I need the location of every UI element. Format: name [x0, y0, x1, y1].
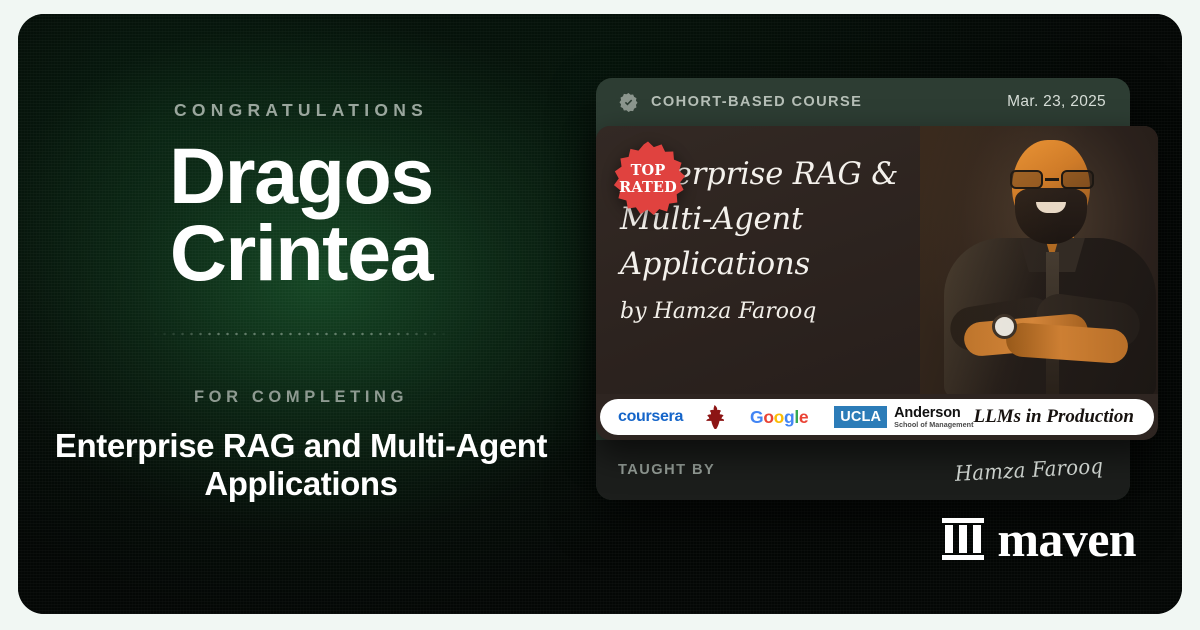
google-letter-g: g — [784, 407, 794, 428]
google-letter-o2: o — [774, 407, 784, 428]
course-card-column: COHORT-BASED COURSE Mar. 23, 2025 TOP RA… — [582, 78, 1144, 500]
google-letter-o1: o — [763, 407, 773, 428]
maven-pillars-icon — [942, 516, 984, 562]
course-date: Mar. 23, 2025 — [1007, 93, 1106, 111]
certificate-text-column: CONGRATULATIONS Dragos Crintea FOR COMPL… — [18, 14, 584, 614]
anderson-subtitle: School of Management — [894, 421, 973, 428]
llms-in-production-logo: LLMs in Production — [974, 406, 1138, 428]
dotted-divider — [151, 332, 451, 336]
course-type-label: COHORT-BASED COURSE — [651, 94, 862, 110]
anderson-name: Anderson — [894, 406, 973, 421]
certificate-canvas: CONGRATULATIONS Dragos Crintea FOR COMPL… — [18, 14, 1182, 614]
certificate-frame: CONGRATULATIONS Dragos Crintea FOR COMPL… — [0, 0, 1200, 630]
thumbnail-title-line-3: Applications — [620, 242, 950, 287]
congratulations-label: CONGRATULATIONS — [174, 100, 428, 121]
completed-course-title: Enterprise RAG and Multi-Agent Applicati… — [51, 427, 551, 504]
course-thumbnail-card[interactable]: TOP RATED Enterprise RAG & Multi-Agent A… — [596, 126, 1158, 440]
maven-wordmark: maven — [997, 514, 1136, 564]
coursera-logo: coursera — [618, 408, 683, 426]
course-card-footer: TAUGHT BY Hamza Farooq — [596, 440, 1130, 500]
course-card-header: COHORT-BASED COURSE Mar. 23, 2025 — [596, 78, 1130, 126]
google-logo: Google — [750, 407, 808, 428]
maven-brand-logo[interactable]: maven — [942, 514, 1136, 564]
verified-badge-icon — [618, 92, 639, 113]
google-letter-G: G — [750, 407, 763, 428]
thumbnail-body: TOP RATED Enterprise RAG & Multi-Agent A… — [596, 126, 1158, 394]
course-card[interactable]: COHORT-BASED COURSE Mar. 23, 2025 TOP RA… — [596, 78, 1130, 500]
google-letter-e: e — [799, 407, 808, 428]
instructor-portrait — [920, 126, 1158, 394]
ucla-mark: UCLA — [834, 406, 887, 429]
stanford-logo — [705, 405, 724, 429]
ucla-anderson-logo: UCLA Anderson School of Management — [834, 406, 973, 429]
partner-logo-strip: coursera Google UCLA Ander — [600, 399, 1154, 435]
recipient-name: Dragos Crintea — [61, 137, 541, 292]
taught-by-label: TAUGHT BY — [618, 462, 715, 478]
top-rated-badge-icon — [609, 140, 687, 218]
thumbnail-byline: by Hamza Farooq — [620, 299, 950, 324]
instructor-signature: Hamza Farooq — [954, 454, 1104, 486]
for-completing-label: FOR COMPLETING — [194, 388, 408, 407]
